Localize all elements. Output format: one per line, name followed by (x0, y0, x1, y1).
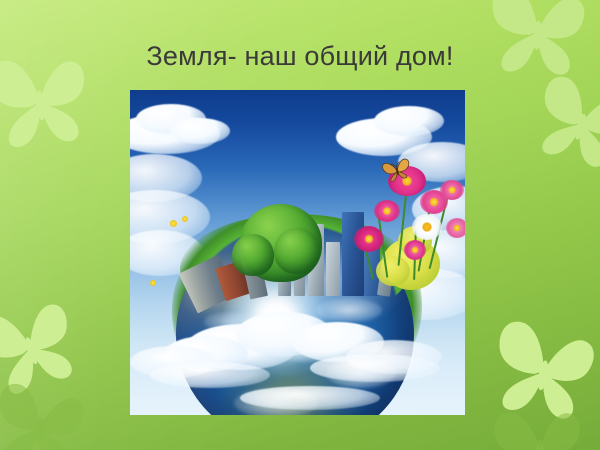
cloud (170, 118, 230, 144)
butterfly-bottom-left-icon (0, 287, 92, 405)
cloud (310, 354, 440, 382)
cloud (240, 386, 380, 410)
butterfly-mid-right-icon (524, 66, 600, 177)
butterfly-bottom-right-icon (482, 311, 600, 428)
earth-planet-nature-photo[interactable] (130, 90, 465, 415)
cloud (150, 362, 270, 388)
building (326, 242, 340, 296)
cloud (374, 106, 444, 136)
butterfly-lower-left-faint-icon (0, 376, 94, 450)
pink-flower (354, 226, 384, 252)
yellow-wildflower (150, 280, 156, 286)
yellow-wildflower (182, 216, 188, 222)
pink-flower (404, 240, 426, 260)
title-placeholder[interactable]: Земля- наш общий дом! (0, 40, 600, 72)
pink-flower (374, 200, 400, 222)
white-daisy (412, 214, 442, 240)
green-tree-lobe (274, 228, 320, 274)
pink-flower (446, 218, 465, 238)
page-title: Земля- наш общий дом! (146, 40, 453, 72)
pink-flower (440, 180, 464, 200)
yellow-wildflower (170, 220, 177, 227)
butterfly-lower-right-faint-icon (488, 399, 593, 450)
green-tree-lobe (232, 234, 274, 276)
presentation-slide: Земля- наш общий дом! (0, 0, 600, 450)
